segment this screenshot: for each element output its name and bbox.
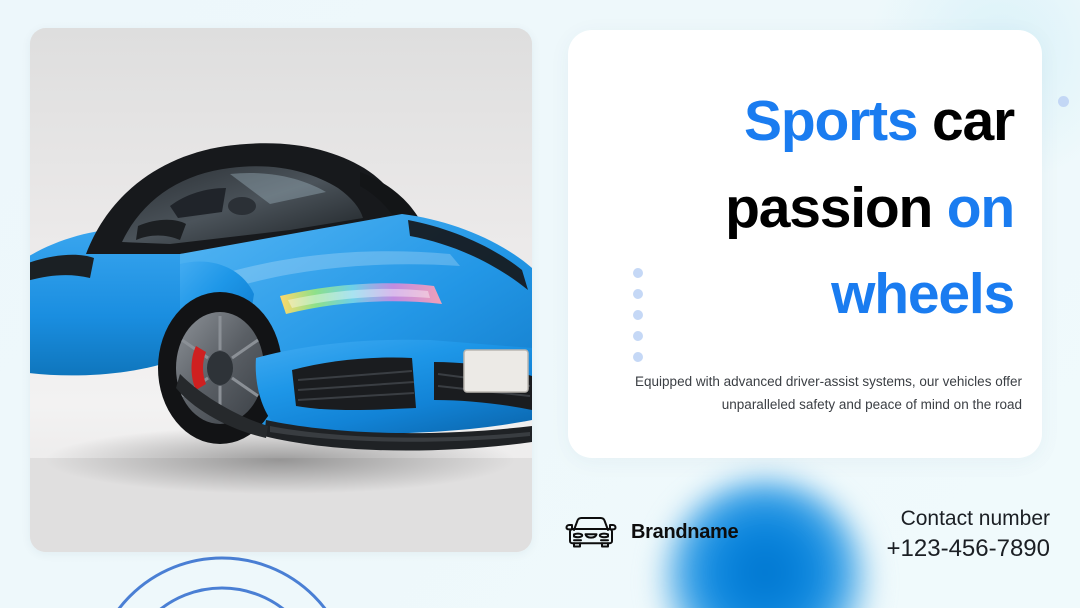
contact-block: Contact number +123-456-7890	[887, 505, 1050, 566]
body-description: Equipped with advanced driver-assist sys…	[630, 370, 1022, 416]
body-line-1: Equipped with advanced driver-assist sys…	[635, 374, 991, 389]
headline-line-3: wheels	[614, 251, 1014, 338]
contact-label: Contact number	[887, 505, 1050, 533]
decor-dot	[633, 331, 643, 341]
car-front-icon	[563, 512, 619, 552]
decor-dot	[633, 352, 643, 362]
car-photo-card	[30, 28, 532, 552]
page-title: Sports car passion on wheels	[614, 78, 1014, 338]
decor-dot	[633, 268, 643, 278]
contact-number[interactable]: +123-456-7890	[887, 533, 1050, 565]
decor-dot	[633, 289, 643, 299]
banner-root: Sports car passion on wheels Equipped wi…	[0, 0, 1080, 608]
headline-accent-on: on	[947, 176, 1014, 240]
dot-column-decoration	[633, 268, 643, 362]
headline-plain-passion: passion	[725, 176, 932, 240]
car-photo	[30, 28, 532, 552]
corner-dot	[1058, 96, 1069, 107]
headline-accent-wheels: wheels	[831, 262, 1014, 326]
headline-line-1: Sports car	[614, 78, 1014, 165]
decor-dot	[633, 310, 643, 320]
brand-name: Brandname	[631, 521, 738, 544]
headline-line-2: passion on	[614, 165, 1014, 252]
content-card: Sports car passion on wheels Equipped wi…	[568, 30, 1042, 458]
headline-plain-car: car	[932, 89, 1014, 153]
concentric-arcs-decoration	[92, 548, 364, 608]
headline-accent-sports: Sports	[744, 89, 917, 153]
brand-lockup[interactable]: Brandname	[563, 512, 738, 552]
